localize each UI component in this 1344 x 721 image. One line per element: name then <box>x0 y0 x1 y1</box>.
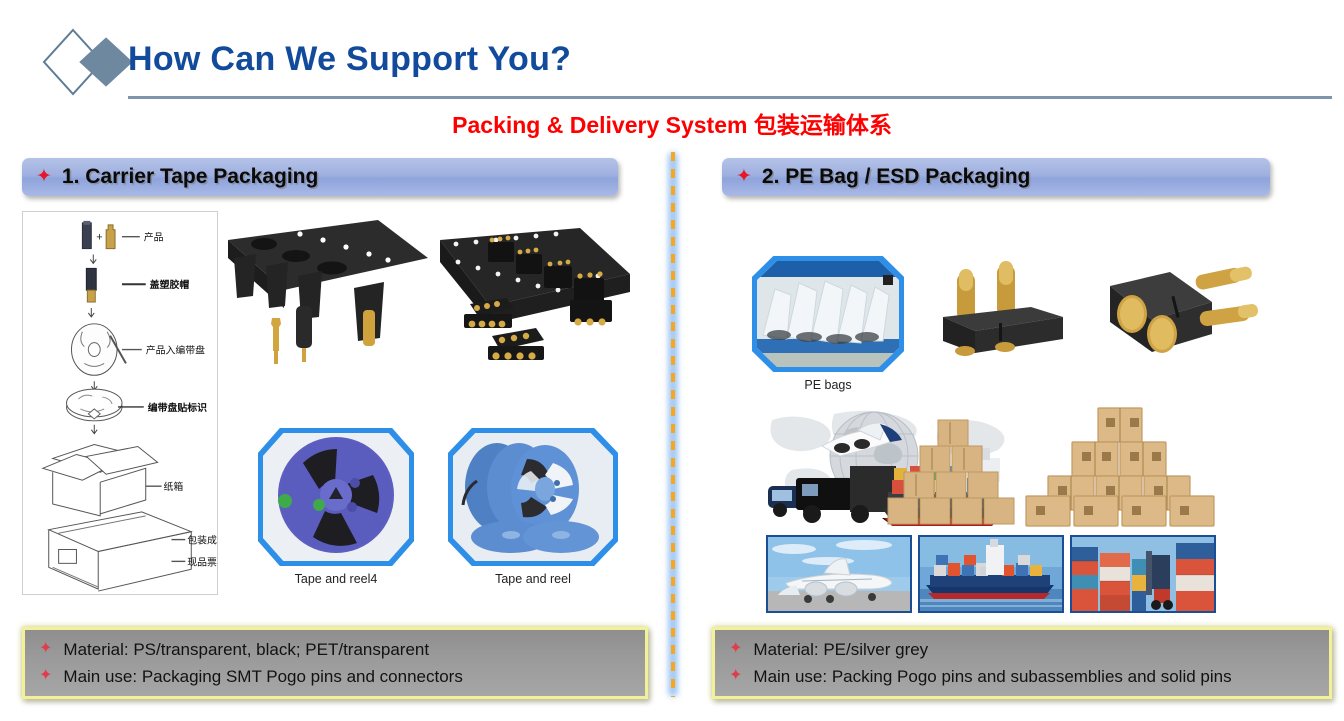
photo-caption: PE bags <box>752 378 904 392</box>
carrier-tape-packing-flow: + 产品 盖塑胶帽 产品入编带盘 <box>22 211 218 595</box>
info-line: ✦ Main use: Packing Pogo pins and subass… <box>729 667 1315 687</box>
octagon-inner <box>453 433 613 561</box>
global-logistics-photo <box>762 400 1022 530</box>
info-text: Main use: Packaging SMT Pogo pins and co… <box>63 667 462 687</box>
page-subtitle: Packing & Delivery System 包装运输体系 <box>0 106 1344 140</box>
section-label: 2. PE Bag / ESD Packaging <box>762 165 1030 189</box>
diamond-bullet-icon: ✦ <box>39 668 52 684</box>
dashed-vertical-divider <box>668 152 678 697</box>
section-header-pe-bag[interactable]: ✦ 2. PE Bag / ESD Packaging <box>722 158 1270 196</box>
svg-text:产品入编带盘: 产品入编带盘 <box>146 344 205 357</box>
tape-and-reel-front-photo <box>258 428 414 566</box>
svg-text:包装成品: 包装成品 <box>187 534 217 547</box>
pe-bag-info: ✦ Material: PE/silver grey ✦ Main use: P… <box>712 627 1332 699</box>
info-text: Material: PS/transparent, black; PET/tra… <box>63 640 429 660</box>
section-header-carrier-tape[interactable]: ✦ 1. Carrier Tape Packaging <box>22 158 618 196</box>
diamond-bullet-icon: ✦ <box>736 167 752 186</box>
svg-text:现品票: 现品票 <box>187 556 217 568</box>
photo-caption: Tape and reel <box>448 572 618 586</box>
diamond-bullet-icon: ✦ <box>729 641 742 657</box>
svg-text:产品: 产品 <box>144 231 164 244</box>
pogo-pin-pair-photo <box>935 255 1095 385</box>
info-line: ✦ Material: PE/silver grey <box>729 640 1315 660</box>
slide-root: How Can We Support You? Packing & Delive… <box>0 0 1344 721</box>
info-text: Material: PE/silver grey <box>753 640 928 660</box>
tape-and-reel-stack-photo <box>448 428 618 566</box>
svg-text:纸箱: 纸箱 <box>164 480 184 493</box>
divider-dashes <box>671 152 675 697</box>
diamond-bullet-icon: ✦ <box>729 668 742 684</box>
carrier-tape-cavities-photo <box>228 214 432 396</box>
svg-text:盖塑胶帽: 盖塑胶帽 <box>150 278 190 291</box>
pe-bags-photo <box>752 256 904 372</box>
photo-caption: Tape and reel4 <box>258 572 414 586</box>
page-title: How Can We Support You? <box>128 40 571 79</box>
title-underline <box>128 96 1332 99</box>
sea-freight-photo <box>918 535 1064 613</box>
octagon-inner <box>757 261 899 367</box>
carrier-tape-connectors-photo <box>430 228 636 392</box>
octagon-inner <box>263 433 409 561</box>
diamond-bullet-icon: ✦ <box>36 167 52 186</box>
info-line: ✦ Material: PS/transparent, black; PET/t… <box>39 640 631 660</box>
svg-text:编带盘贴标识: 编带盘贴标识 <box>148 401 207 414</box>
cardboard-boxes-photo <box>1020 400 1232 530</box>
air-freight-photo <box>766 535 912 613</box>
diamond-bullet-icon: ✦ <box>39 641 52 657</box>
section-label: 1. Carrier Tape Packaging <box>62 165 318 189</box>
info-text: Main use: Packing Pogo pins and subassem… <box>753 667 1231 687</box>
pogo-pin-angled-photo <box>1100 260 1260 390</box>
container-yard-photo <box>1070 535 1216 613</box>
info-line: ✦ Main use: Packaging SMT Pogo pins and … <box>39 667 631 687</box>
carrier-tape-info: ✦ Material: PS/transparent, black; PET/t… <box>22 627 648 699</box>
svg-text:+: + <box>96 232 102 244</box>
